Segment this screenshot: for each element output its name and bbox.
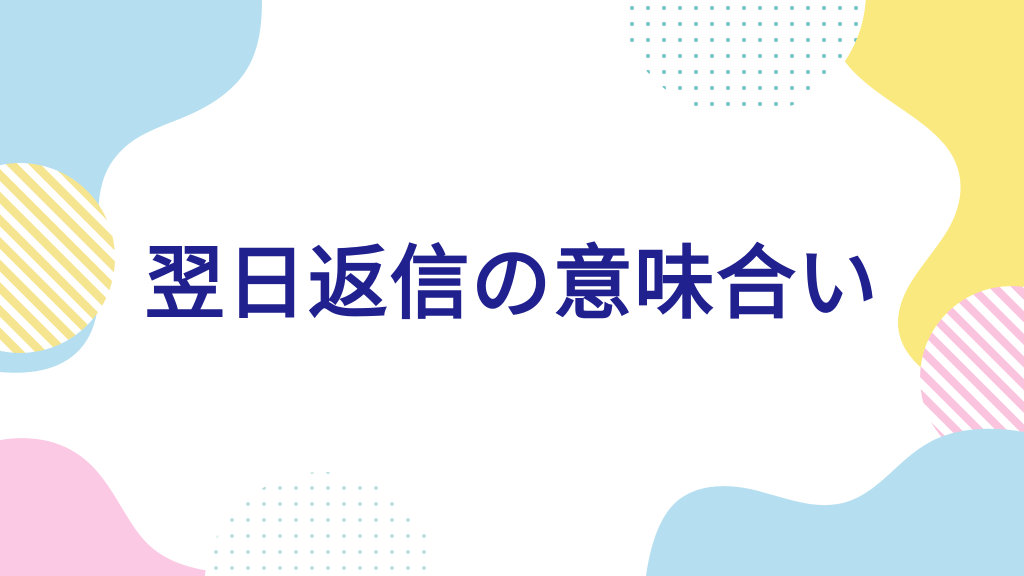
title-slide: 翌日返信の意味合い [0,0,1024,576]
decorative-background [0,0,1024,576]
